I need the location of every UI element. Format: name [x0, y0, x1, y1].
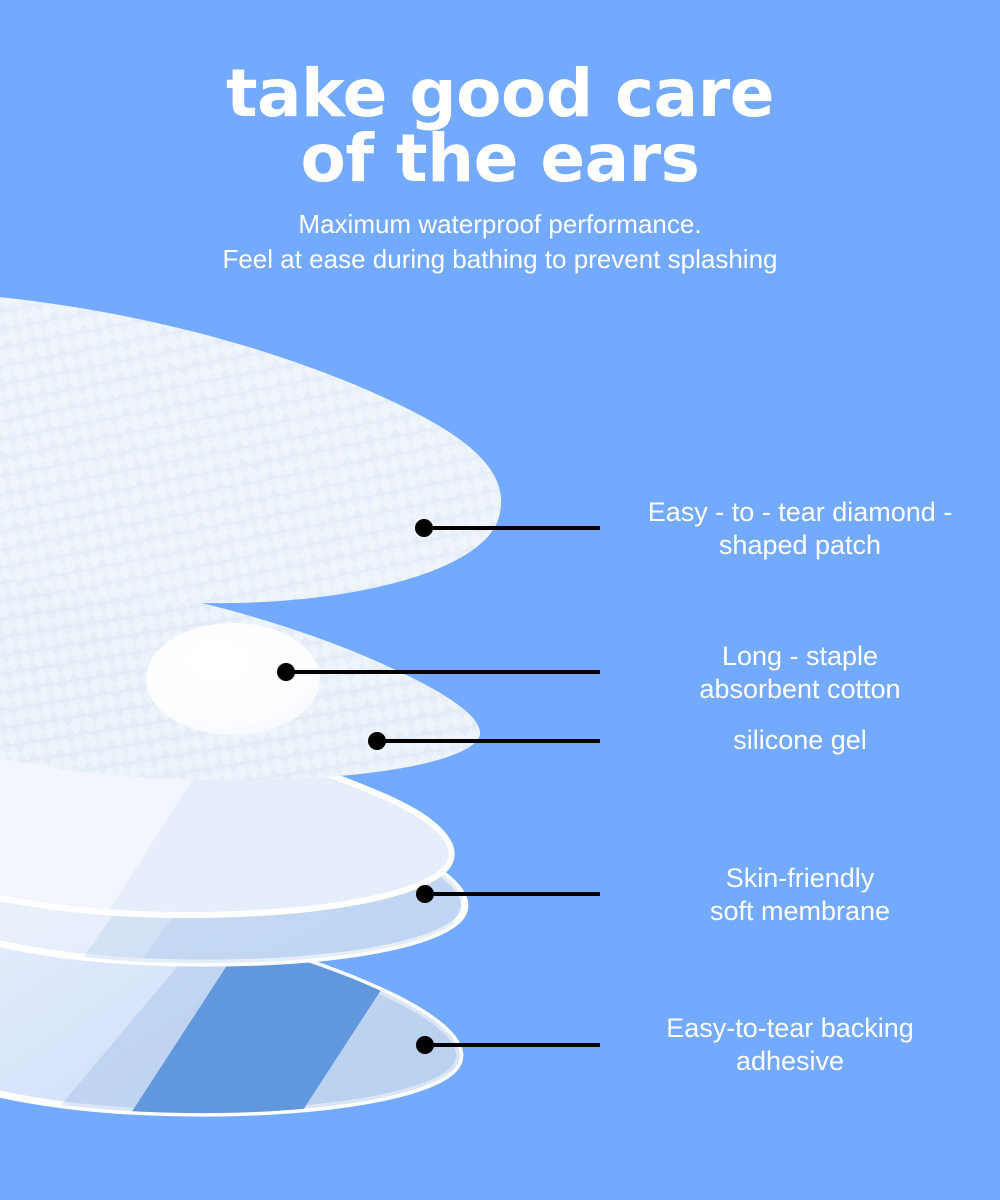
callout-label-silicone-gel: silicone gel — [610, 724, 990, 757]
callout-label-diamond-patch: Easy - to - tear diamond - shaped patch — [610, 496, 990, 562]
callout-label-backing-adhesive-line2: adhesive — [736, 1046, 844, 1076]
callout-label-absorbent-cotton: Long - staple absorbent cotton — [610, 640, 990, 706]
callout-label-backing-adhesive-line1: Easy-to-tear backing — [666, 1013, 914, 1043]
infographic-page: take good care of the ears Maximum water… — [0, 0, 1000, 1200]
callout-label-backing-adhesive: Easy-to-tear backing adhesive — [600, 1012, 980, 1078]
callout-label-absorbent-cotton-line2: absorbent cotton — [699, 674, 900, 704]
callout-label-diamond-patch-line1: Easy - to - tear diamond - — [648, 497, 953, 527]
callout-label-absorbent-cotton-line1: Long - staple — [722, 641, 878, 671]
callout-labels: Easy - to - tear diamond - shaped patch … — [0, 0, 1000, 1200]
callout-label-silicone-gel-line1: silicone gel — [733, 725, 867, 755]
callout-label-soft-membrane-line1: Skin-friendly — [726, 863, 875, 893]
callout-label-diamond-patch-line2: shaped patch — [719, 530, 881, 560]
callout-label-soft-membrane: Skin-friendly soft membrane — [610, 862, 990, 928]
callout-label-soft-membrane-line2: soft membrane — [710, 896, 890, 926]
